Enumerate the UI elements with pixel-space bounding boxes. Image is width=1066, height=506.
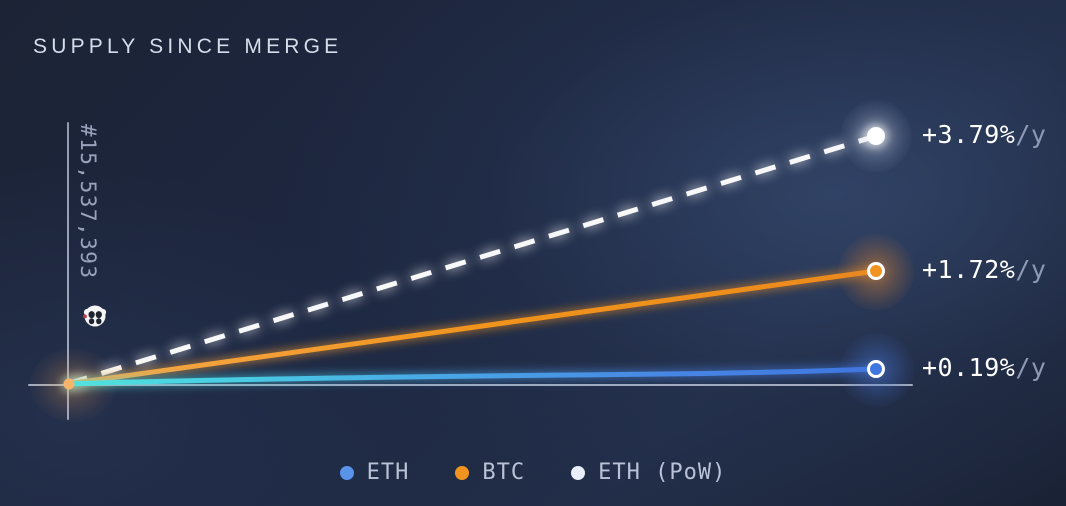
endpoint-value-eth-pow: +3.79% bbox=[922, 120, 1015, 149]
series-line-eth bbox=[67, 369, 876, 384]
legend-swatch-eth-icon bbox=[340, 466, 354, 480]
series-line-eth-pow bbox=[67, 136, 876, 384]
legend-label-eth-pow: ETH (PoW) bbox=[598, 460, 726, 485]
legend-item-eth[interactable]: ETH bbox=[340, 460, 410, 485]
endpoint-suffix-eth: /y bbox=[1015, 353, 1046, 382]
legend-item-btc[interactable]: BTC bbox=[455, 460, 525, 485]
endpoint-label-btc: +1.72%/y bbox=[922, 255, 1046, 284]
y-axis-line bbox=[67, 122, 69, 420]
endpoint-suffix-eth-pow: /y bbox=[1015, 120, 1046, 149]
panda-icon bbox=[82, 303, 108, 329]
legend-label-eth: ETH bbox=[367, 460, 410, 485]
series-line-btc bbox=[67, 271, 876, 384]
plot-area bbox=[0, 0, 1066, 506]
supply-since-merge-chart: SUPPLY SINCE MERGE #15,537,393 bbox=[0, 0, 1066, 506]
chart-legend: ETH BTC ETH (PoW) bbox=[0, 460, 1066, 485]
endpoint-suffix-btc: /y bbox=[1015, 255, 1046, 284]
endpoint-dot-btc[interactable] bbox=[867, 262, 885, 280]
y-axis-label: #15,537,393 bbox=[76, 124, 100, 280]
endpoint-dot-eth[interactable] bbox=[867, 360, 885, 378]
endpoint-value-btc: +1.72% bbox=[922, 255, 1015, 284]
endpoint-label-eth-pow: +3.79%/y bbox=[922, 120, 1046, 149]
legend-label-btc: BTC bbox=[482, 460, 525, 485]
endpoint-value-eth: +0.19% bbox=[922, 353, 1015, 382]
legend-item-eth-pow[interactable]: ETH (PoW) bbox=[571, 460, 726, 485]
page-title: SUPPLY SINCE MERGE bbox=[33, 35, 342, 59]
legend-swatch-btc-icon bbox=[455, 466, 469, 480]
x-axis-line bbox=[28, 384, 913, 386]
endpoint-label-eth: +0.19%/y bbox=[922, 353, 1046, 382]
endpoint-dot-eth-pow[interactable] bbox=[867, 127, 885, 145]
legend-swatch-eth-pow-icon bbox=[571, 466, 585, 480]
